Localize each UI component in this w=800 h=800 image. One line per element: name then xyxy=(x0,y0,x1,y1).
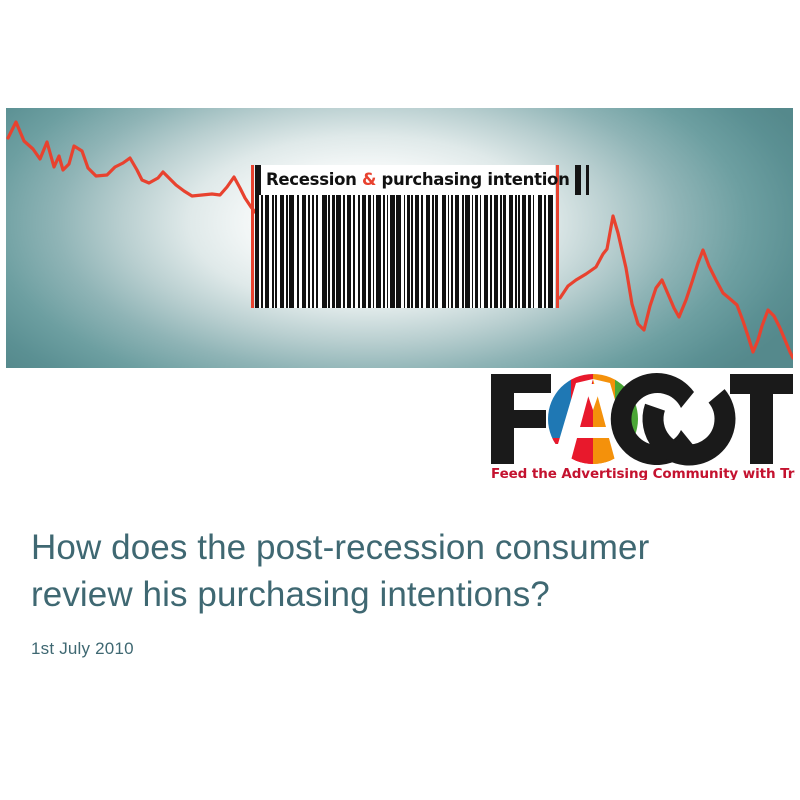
trend-line-right xyxy=(560,216,793,358)
page-title-line-2: review his purchasing intentions? xyxy=(31,575,550,614)
logo-letter-f xyxy=(491,374,551,464)
barcode-title-part-1: Recession xyxy=(266,170,362,189)
barcode-title-text: Recession & purchasing intention xyxy=(266,172,570,189)
logo-a-crossbar-gap xyxy=(571,427,615,438)
barcode-title-ampersand: & xyxy=(362,170,376,189)
page-title-line-1: How does the post-recession consumer xyxy=(31,528,649,567)
trend-line-left xyxy=(8,122,255,212)
barcode-bar-guard-end xyxy=(575,165,581,195)
fact-logo-svg: Feed the Advertising Community with Tren… xyxy=(489,370,795,480)
barcode-graphic: Recession & purchasing intention xyxy=(251,165,559,308)
barcode-space xyxy=(553,195,555,308)
barcode-bar-guard-start xyxy=(255,165,261,195)
title-block: How does the post-recession consumerrevi… xyxy=(31,524,761,660)
presentation-date: 1st July 2010 xyxy=(31,638,761,660)
barcode-guard-left xyxy=(251,165,254,308)
barcode-title-row: Recession & purchasing intention xyxy=(255,165,555,195)
hero-banner: Recession & purchasing intention xyxy=(6,108,793,368)
logo-tagline: Feed the Advertising Community with Tren… xyxy=(491,466,795,480)
logo-letter-t xyxy=(730,374,793,464)
barcode-title-part-2: purchasing intention xyxy=(376,170,569,189)
barcode-bars xyxy=(255,195,555,308)
page-title: How does the post-recession consumerrevi… xyxy=(31,524,761,618)
fact-logo: Feed the Advertising Community with Tren… xyxy=(489,370,795,480)
barcode-bar-guard-end-thin xyxy=(586,165,589,195)
